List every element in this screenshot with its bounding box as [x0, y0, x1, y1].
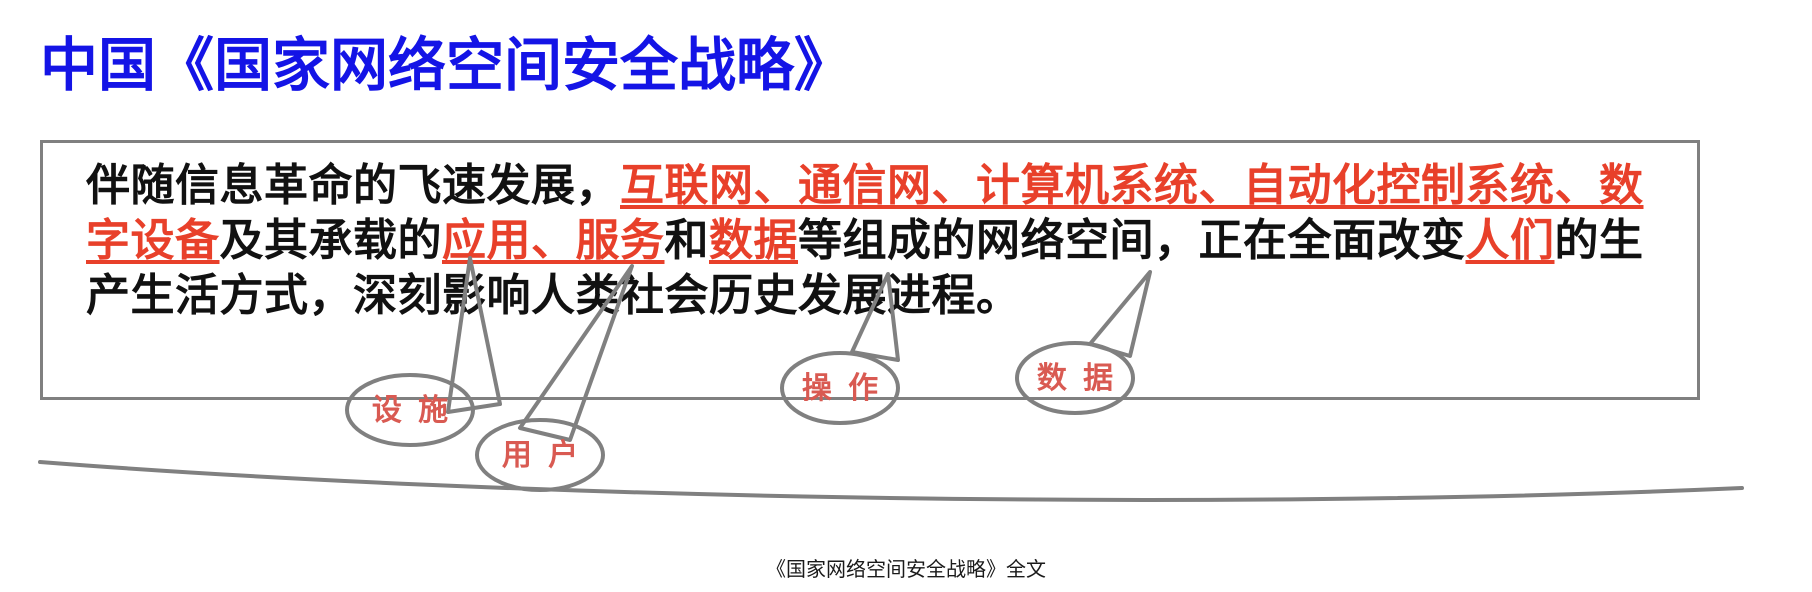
callout-users-bubble [477, 420, 603, 490]
body-plain-run: 及其承载的 [220, 216, 443, 265]
footer-caption: 《国家网络空间安全战略》全文 [0, 553, 1812, 582]
body-plain-run: 等组成的网络空间，正在全面改变 [798, 216, 1466, 265]
callout-users-label: 用 户 [502, 439, 582, 472]
body-plain-run: 伴随信息革命的飞速发展， [86, 161, 620, 210]
page-title: 中国《国家网络空间安全战略》 [40, 34, 852, 98]
body-highlight-run: 应用、服务 [442, 216, 665, 265]
baseline-curve [40, 462, 1742, 500]
body-paragraph: 伴随信息革命的飞速发展，互联网、通信网、计算机系统、自动化控制系统、数字设备及其… [86, 158, 1686, 323]
body-highlight-run: 数据 [709, 216, 798, 265]
body-plain-run: 和 [665, 216, 710, 265]
body-highlight-run: 人们 [1466, 216, 1555, 265]
